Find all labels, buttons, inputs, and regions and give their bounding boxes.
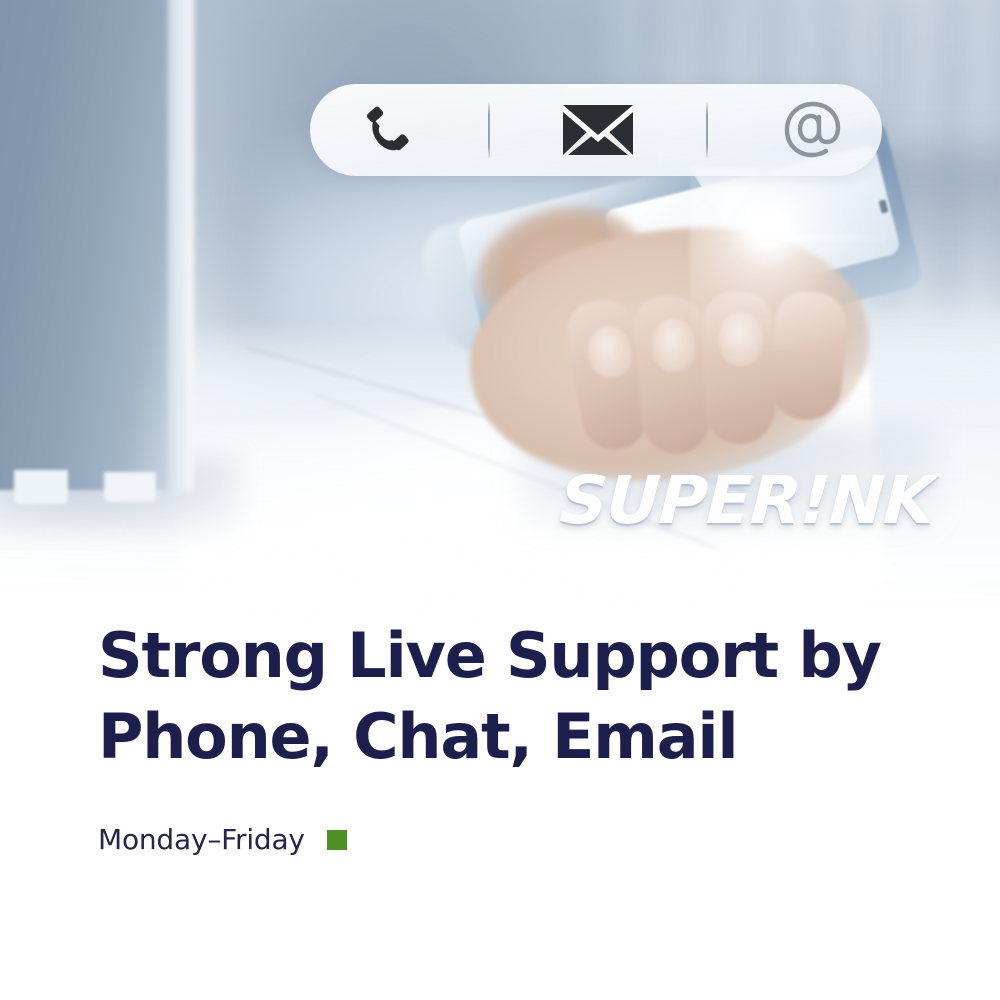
light-flare-streak: [706, 236, 896, 240]
laptop-foot-right: [104, 472, 156, 502]
superink-watermark: SUPER!NK: [558, 462, 936, 539]
contact-option-email[interactable]: [560, 84, 636, 176]
envelope-icon: [560, 101, 636, 159]
finger-4: [768, 290, 849, 423]
text-block: Strong Live Support by Phone, Chat, Emai…: [98, 616, 918, 856]
fingernail-3: [718, 312, 765, 367]
laptop-edge-highlight: [168, 0, 194, 492]
pill-divider-2: [706, 102, 708, 158]
availability-label: Monday–Friday: [98, 823, 305, 856]
pill-pointer-tail: [690, 168, 762, 226]
contact-methods-pill[interactable]: [310, 84, 882, 176]
laptop-foot-left: [14, 470, 68, 504]
phone-icon: [356, 99, 418, 161]
contact-option-phone[interactable]: [356, 84, 418, 176]
at-sign-icon: [778, 95, 848, 165]
contact-option-at[interactable]: [778, 84, 848, 176]
laptop-body: [0, 0, 185, 490]
green-accent-square: [327, 830, 347, 850]
pill-divider-1: [488, 102, 490, 158]
support-banner: SUPER!NK Strong Live Support by Phone, C…: [0, 0, 1000, 1000]
availability-row: Monday–Friday: [98, 823, 918, 856]
page-title: Strong Live Support by Phone, Chat, Emai…: [98, 616, 918, 777]
